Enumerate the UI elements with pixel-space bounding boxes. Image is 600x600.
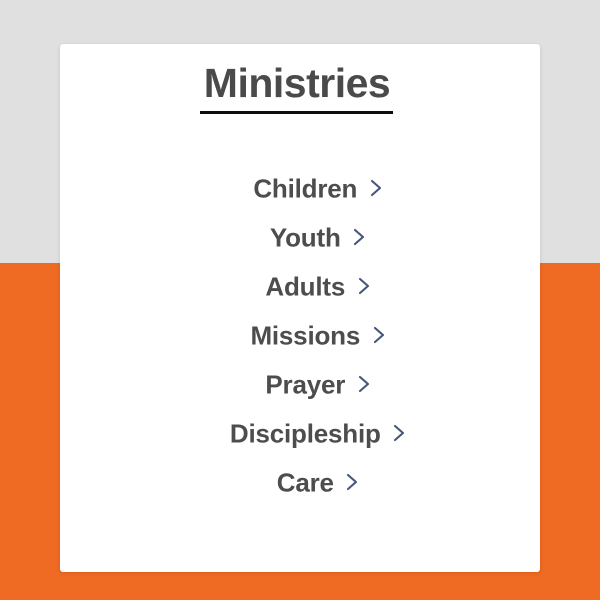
menu-item-label: Missions (250, 320, 360, 350)
page-title-wrapper: Ministries (60, 57, 540, 109)
menu-item-care[interactable]: Care (277, 458, 359, 507)
list-item: Care (60, 458, 540, 507)
menu-item-label: Discipleship (230, 418, 381, 448)
list-item: Youth (60, 213, 540, 262)
list-item: Missions (60, 311, 540, 360)
menu-item-missions[interactable]: Missions (250, 311, 385, 360)
chevron-right-icon (372, 325, 386, 345)
list-item: Children (60, 164, 540, 213)
chevron-right-icon (352, 227, 366, 247)
title-underline-rule (200, 111, 393, 114)
ministries-card: Ministries Children Youth (60, 44, 540, 572)
menu-item-adults[interactable]: Adults (265, 262, 370, 311)
chevron-right-icon (345, 472, 359, 492)
list-item: Adults (60, 262, 540, 311)
menu-item-youth[interactable]: Youth (270, 213, 366, 262)
chevron-right-icon (357, 374, 371, 394)
list-item: Prayer (60, 360, 540, 409)
ministries-menu: Children Youth (60, 164, 540, 507)
chevron-right-icon (357, 276, 371, 296)
page-title: Ministries (204, 57, 396, 109)
chevron-right-icon (392, 423, 406, 443)
menu-item-prayer[interactable]: Prayer (265, 360, 370, 409)
chevron-right-icon (369, 178, 383, 198)
menu-item-label: Youth (270, 222, 341, 252)
menu-item-label: Prayer (265, 369, 345, 399)
menu-item-label: Care (277, 467, 334, 497)
menu-item-label: Children (253, 173, 357, 203)
menu-item-children[interactable]: Children (253, 164, 382, 213)
menu-item-label: Adults (265, 271, 345, 301)
menu-item-discipleship[interactable]: Discipleship (230, 409, 406, 458)
page-root: Ministries Children Youth (0, 0, 600, 600)
list-item: Discipleship (60, 409, 540, 458)
